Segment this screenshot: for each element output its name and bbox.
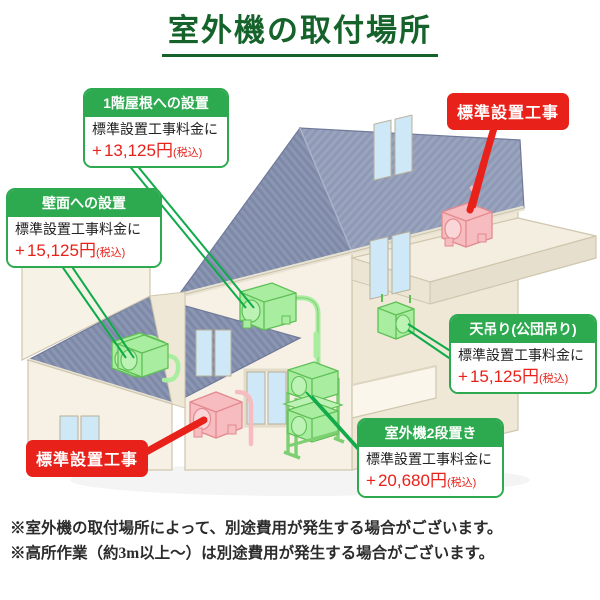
tax-note: (税込) — [96, 247, 125, 259]
currency: 円 — [156, 141, 173, 160]
callout-wall-header: 壁面への設置 — [8, 190, 160, 217]
amount: 15,125 — [470, 367, 522, 386]
callout-two-tier-installation[interactable]: 室外機2段置き 標準設置工事料金に +20,680円(税込) — [357, 418, 504, 498]
callout-roof-body: 標準設置工事料金に +13,125円(税込) — [85, 117, 227, 166]
plus-sign: + — [15, 241, 25, 260]
footnote-2: ※高所作業（約3m以上〜）は別途費用が発生する場合がございます。 — [10, 541, 594, 566]
amount: 13,125 — [104, 141, 156, 160]
plus-sign: + — [458, 367, 468, 386]
callout-two-tier-price: +20,680円(税込) — [366, 470, 495, 492]
amount: 20,680 — [378, 471, 430, 490]
callout-two-tier-note: 標準設置工事料金に — [366, 450, 495, 469]
callout-roof-header: 1階屋根への設置 — [85, 90, 227, 117]
callout-ceiling-hung-installation[interactable]: 天吊り(公団吊り) 標準設置工事料金に +15,125円(税込) — [449, 314, 597, 394]
callout-wall-note: 標準設置工事料金に — [15, 220, 153, 239]
callout-wall-installation[interactable]: 壁面への設置 標準設置工事料金に +15,125円(税込) — [6, 188, 162, 268]
tax-note: (税込) — [173, 147, 202, 159]
tax-note: (税込) — [539, 373, 568, 385]
unit-ground-pink — [190, 392, 242, 438]
callout-wall-price: +15,125円(税込) — [15, 240, 153, 262]
currency: 円 — [522, 367, 539, 386]
callout-wall-body: 標準設置工事料金に +15,125円(税込) — [8, 217, 160, 266]
footnote-1: ※室外機の取付場所によって、別途費用が発生する場合がございます。 — [10, 516, 594, 541]
tax-note: (税込) — [447, 477, 476, 489]
badge-standard-installation-top[interactable]: 標準設置工事 — [447, 93, 569, 130]
plus-sign: + — [366, 471, 376, 490]
infographic-canvas: 室外機の取付場所 — [0, 0, 600, 600]
currency: 円 — [79, 241, 96, 260]
callout-ceiling-body: 標準設置工事料金に +15,125円(税込) — [451, 343, 595, 392]
unit-roof-mounted — [240, 283, 296, 330]
callout-roof-installation[interactable]: 1階屋根への設置 標準設置工事料金に +13,125円(税込) — [83, 88, 229, 168]
callout-ceiling-price: +15,125円(税込) — [458, 366, 588, 388]
callout-ceiling-header: 天吊り(公団吊り) — [451, 316, 595, 343]
callout-two-tier-body: 標準設置工事料金に +20,680円(税込) — [359, 447, 502, 496]
plus-sign: + — [92, 141, 102, 160]
callout-roof-price: +13,125円(税込) — [92, 140, 220, 162]
callout-two-tier-header: 室外機2段置き — [359, 420, 502, 447]
currency: 円 — [430, 471, 447, 490]
callout-roof-note: 標準設置工事料金に — [92, 120, 220, 139]
badge-standard-installation-bottom[interactable]: 標準設置工事 — [26, 440, 148, 477]
callout-ceiling-note: 標準設置工事料金に — [458, 346, 588, 365]
amount: 15,125 — [27, 241, 79, 260]
footnotes: ※室外機の取付場所によって、別途費用が発生する場合がございます。 ※高所作業（約… — [10, 516, 594, 566]
